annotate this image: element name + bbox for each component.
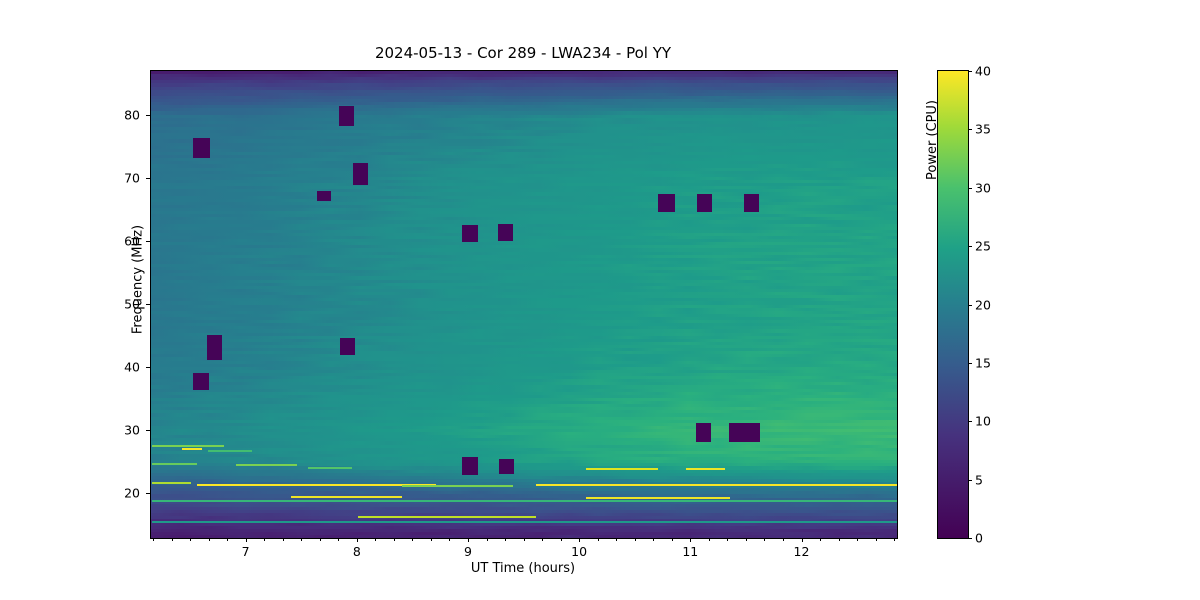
rfi-streak (536, 484, 897, 486)
rfi-streak (686, 468, 725, 470)
plot-title: 2024-05-13 - Cor 289 - LWA234 - Pol YY (150, 44, 896, 62)
x-tick-minor (227, 538, 228, 541)
colorbar-tick-mark (968, 538, 972, 539)
rfi-streak (152, 463, 197, 465)
x-tick-minor (653, 538, 654, 541)
y-tick-label: 80 (124, 108, 140, 123)
x-tick-minor (172, 538, 173, 541)
rfi-streak (182, 448, 202, 450)
x-tick-label: 9 (464, 544, 472, 559)
x-tick-label: 7 (242, 544, 250, 559)
x-tick-minor (375, 538, 376, 541)
masked-rfi-block[interactable] (729, 423, 760, 443)
masked-rfi-block[interactable] (193, 373, 209, 390)
x-tick-minor (487, 538, 488, 541)
rfi-streak (402, 485, 513, 487)
masked-rfi-block[interactable] (193, 138, 210, 159)
colorbar-tick-label: 30 (975, 180, 991, 195)
y-tick-mark (146, 304, 150, 305)
x-tick-minor (746, 538, 747, 541)
x-tick-minor (264, 538, 265, 541)
colorbar-tick-label: 0 (975, 531, 983, 546)
x-tick-minor (561, 538, 562, 541)
masked-rfi-block[interactable] (339, 106, 355, 126)
masked-rfi-block[interactable] (340, 338, 355, 356)
rfi-streak (308, 467, 353, 469)
colorbar[interactable]: 0510152025303540 (937, 70, 969, 539)
colorbar-tick-mark (968, 71, 972, 72)
x-tick-mark (357, 538, 358, 542)
rfi-streak (586, 497, 731, 499)
masked-rfi-block[interactable] (744, 194, 760, 212)
rfi-streak (152, 500, 897, 502)
x-tick-mark (468, 538, 469, 542)
x-tick-mark (246, 538, 247, 542)
colorbar-tick-label: 10 (975, 414, 991, 429)
colorbar-tick-mark (968, 188, 972, 189)
x-tick-minor (672, 538, 673, 541)
colorbar-tick-mark (968, 363, 972, 364)
masked-rfi-block[interactable] (353, 163, 368, 185)
x-tick-minor (153, 538, 154, 541)
y-tick-mark (146, 493, 150, 494)
masked-rfi-block[interactable] (207, 335, 223, 361)
colorbar-tick-mark (968, 480, 972, 481)
y-axis-ticks: 20304050607080 (0, 70, 150, 537)
y-tick-mark (146, 178, 150, 179)
heatmap-image (151, 71, 897, 538)
x-tick-minor (709, 538, 710, 541)
rfi-streak (291, 496, 402, 498)
x-tick-minor (820, 538, 821, 541)
x-tick-mark (802, 538, 803, 542)
colorbar-tick-label: 40 (975, 64, 991, 79)
x-tick-mark (579, 538, 580, 542)
y-tick-label: 30 (124, 423, 140, 438)
x-tick-minor (598, 538, 599, 541)
x-axis-label: UT Time (hours) (150, 561, 896, 576)
x-tick-minor (412, 538, 413, 541)
rfi-streak (152, 445, 224, 447)
x-tick-minor (338, 538, 339, 541)
x-tick-minor (616, 538, 617, 541)
y-tick-mark (146, 241, 150, 242)
masked-rfi-block[interactable] (658, 194, 675, 212)
colorbar-tick-label: 5 (975, 472, 983, 487)
rfi-streak (152, 482, 191, 484)
colorbar-tick-mark (968, 246, 972, 247)
rfi-streak (236, 464, 297, 466)
x-tick-minor (727, 538, 728, 541)
x-tick-label: 10 (571, 544, 587, 559)
x-tick-label: 8 (353, 544, 361, 559)
masked-rfi-block[interactable] (462, 225, 478, 242)
y-tick-mark (146, 430, 150, 431)
x-tick-minor (894, 538, 895, 541)
x-tick-minor (783, 538, 784, 541)
x-tick-minor (320, 538, 321, 541)
colorbar-tick-mark (968, 421, 972, 422)
rfi-streak (208, 450, 253, 452)
x-tick-minor (449, 538, 450, 541)
x-tick-mark (690, 538, 691, 542)
x-tick-label: 12 (794, 544, 810, 559)
colorbar-label: Power (CPU) (925, 40, 940, 240)
figure-canvas: 2024-05-13 - Cor 289 - LWA234 - Pol YY 2… (0, 0, 1200, 600)
x-tick-minor (301, 538, 302, 541)
colorbar-tick-label: 25 (975, 239, 991, 254)
rfi-streak (586, 468, 658, 470)
y-tick-mark (146, 115, 150, 116)
x-tick-minor (431, 538, 432, 541)
rfi-streak (358, 516, 536, 518)
colorbar-tick-mark (968, 305, 972, 306)
x-tick-minor (190, 538, 191, 541)
y-axis-label: Frequency (MHz) (131, 180, 146, 380)
x-tick-label: 11 (682, 544, 698, 559)
dynamic-spectrum-axes[interactable] (150, 70, 898, 539)
x-tick-minor (524, 538, 525, 541)
masked-rfi-block[interactable] (498, 224, 514, 242)
y-tick-mark (146, 367, 150, 368)
colorbar-tick-label: 20 (975, 297, 991, 312)
x-tick-minor (876, 538, 877, 541)
colorbar-tick-label: 15 (975, 355, 991, 370)
y-tick-label: 20 (124, 485, 140, 500)
colorbar-tick-mark (968, 129, 972, 130)
x-tick-minor (394, 538, 395, 541)
rfi-streak (152, 521, 897, 523)
masked-rfi-block[interactable] (317, 191, 332, 200)
x-tick-minor (839, 538, 840, 541)
masked-rfi-block[interactable] (499, 459, 514, 474)
x-tick-minor (857, 538, 858, 541)
x-tick-minor (764, 538, 765, 541)
masked-rfi-block[interactable] (696, 423, 712, 443)
x-tick-minor (209, 538, 210, 541)
masked-rfi-block[interactable] (697, 194, 713, 212)
x-tick-minor (505, 538, 506, 541)
masked-rfi-block[interactable] (462, 457, 478, 475)
x-tick-minor (635, 538, 636, 541)
colorbar-tick-label: 35 (975, 122, 991, 137)
x-tick-minor (283, 538, 284, 541)
rfi-streak (197, 484, 436, 486)
x-tick-minor (542, 538, 543, 541)
